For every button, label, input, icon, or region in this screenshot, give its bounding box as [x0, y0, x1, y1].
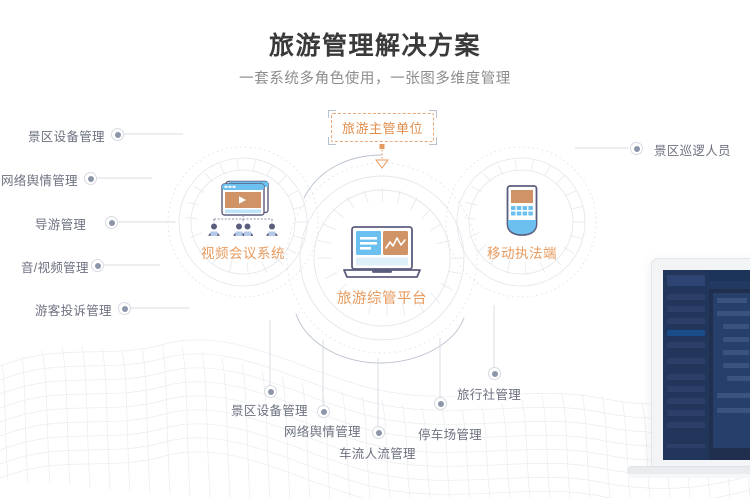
- dashboard-nav-item[interactable]: [667, 422, 705, 428]
- left-item-dot-4[interactable]: [118, 302, 131, 315]
- node-platform[interactable]: [334, 224, 430, 286]
- corner-mark-top-left: [328, 110, 336, 118]
- dashboard-nav-item-active[interactable]: [667, 330, 705, 336]
- laptop-base-shadow: [628, 474, 750, 478]
- dashboard-tree-row[interactable]: [723, 350, 749, 355]
- bottom-item-label-4: 旅行社管理: [457, 384, 521, 403]
- right-item-label-0: 景区巡逻人员: [654, 140, 731, 159]
- dashboard-tree-row[interactable]: [717, 311, 750, 316]
- dashboard-tree-row[interactable]: [723, 363, 749, 368]
- left-item-dot-1[interactable]: [84, 172, 97, 185]
- dashboard-nav-item[interactable]: [667, 398, 705, 404]
- right-item-dot-0[interactable]: [630, 142, 643, 155]
- dashboard-tree-row[interactable]: [717, 298, 747, 303]
- bottom-item-dot-3[interactable]: [434, 397, 447, 410]
- bottom-item-label-2: 车流人流管理: [339, 443, 416, 462]
- dashboard-nav-item[interactable]: [667, 306, 705, 312]
- dashboard-logo: [667, 275, 705, 286]
- left-item-dot-2[interactable]: [105, 216, 118, 229]
- authority-box[interactable]: 旅游主管单位: [331, 113, 434, 142]
- left-item-label-2: 导游管理: [35, 214, 86, 233]
- dashboard-topbar: [709, 270, 750, 281]
- bottom-item-dot-0[interactable]: [264, 385, 277, 398]
- bottom-item-dot-2[interactable]: [372, 426, 385, 439]
- dashboard-tree-row[interactable]: [717, 393, 750, 398]
- left-item-dot-3[interactable]: [91, 259, 104, 272]
- dashboard-sidebar: [663, 270, 709, 460]
- node-video-conference[interactable]: [198, 178, 288, 240]
- authority-box-label: 旅游主管单位: [342, 118, 423, 137]
- dashboard-tree-row[interactable]: [723, 337, 749, 342]
- dashboard-tree-row[interactable]: [727, 376, 750, 381]
- dashboard-nav-item[interactable]: [667, 374, 705, 380]
- bottom-item-label-0: 景区设备管理: [231, 400, 308, 419]
- bottom-item-dot-4[interactable]: [488, 367, 501, 380]
- left-item-label-0: 景区设备管理: [28, 126, 105, 145]
- mobile-device-icon: [498, 184, 546, 240]
- authority-connector-arrow: [364, 144, 400, 172]
- bottom-item-label-3: 停车场管理: [418, 424, 482, 443]
- dashboard-nav-item[interactable]: [667, 410, 705, 416]
- corner-mark-bottom-right: [429, 137, 437, 145]
- page-title: 旅游管理解决方案: [0, 26, 750, 62]
- solution-diagram-canvas: 旅游管理解决方案 一套系统多角色使用，一张图多维度管理: [0, 0, 750, 498]
- page-subtitle: 一套系统多角色使用，一张图多维度管理: [0, 67, 750, 88]
- dashboard-tree-row[interactable]: [717, 408, 750, 413]
- left-item-label-4: 游客投诉管理: [35, 300, 112, 319]
- dashboard-screen: [663, 270, 750, 460]
- dashboard-nav-item[interactable]: [667, 294, 705, 300]
- node-label-platform: 旅游综管平台: [302, 287, 462, 308]
- bottom-item-dot-1[interactable]: [317, 405, 330, 418]
- node-label-mobile-enforcement: 移动执法端: [455, 242, 589, 262]
- admin-dashboard-mockup: [651, 258, 750, 486]
- dashboard-nav-item[interactable]: [667, 318, 705, 324]
- left-item-label-1: 网络舆情管理: [1, 170, 78, 189]
- dashboard-tree-row[interactable]: [723, 324, 749, 329]
- dashboard-tree-panel: [713, 293, 750, 448]
- dashboard-breadcrumb-bar: [709, 281, 750, 289]
- bottom-item-label-1: 网络舆情管理: [284, 421, 361, 440]
- dashboard-nav-item[interactable]: [667, 386, 705, 392]
- corner-mark-bottom-left: [328, 137, 336, 145]
- left-item-label-3: 音/视频管理: [21, 257, 89, 276]
- corner-mark-top-right: [429, 110, 437, 118]
- node-label-video-conference: 视频会议系统: [168, 242, 318, 262]
- left-item-dot-0[interactable]: [111, 128, 124, 141]
- node-mobile-enforcement[interactable]: [498, 184, 546, 240]
- laptop-dashboard-icon: [334, 224, 430, 286]
- dashboard-nav-item[interactable]: [667, 342, 705, 348]
- video-conference-icon: [198, 178, 288, 240]
- dashboard-nav-item[interactable]: [667, 358, 705, 364]
- laptop-frame: [651, 258, 750, 470]
- dashboard-footer-text: [667, 444, 705, 448]
